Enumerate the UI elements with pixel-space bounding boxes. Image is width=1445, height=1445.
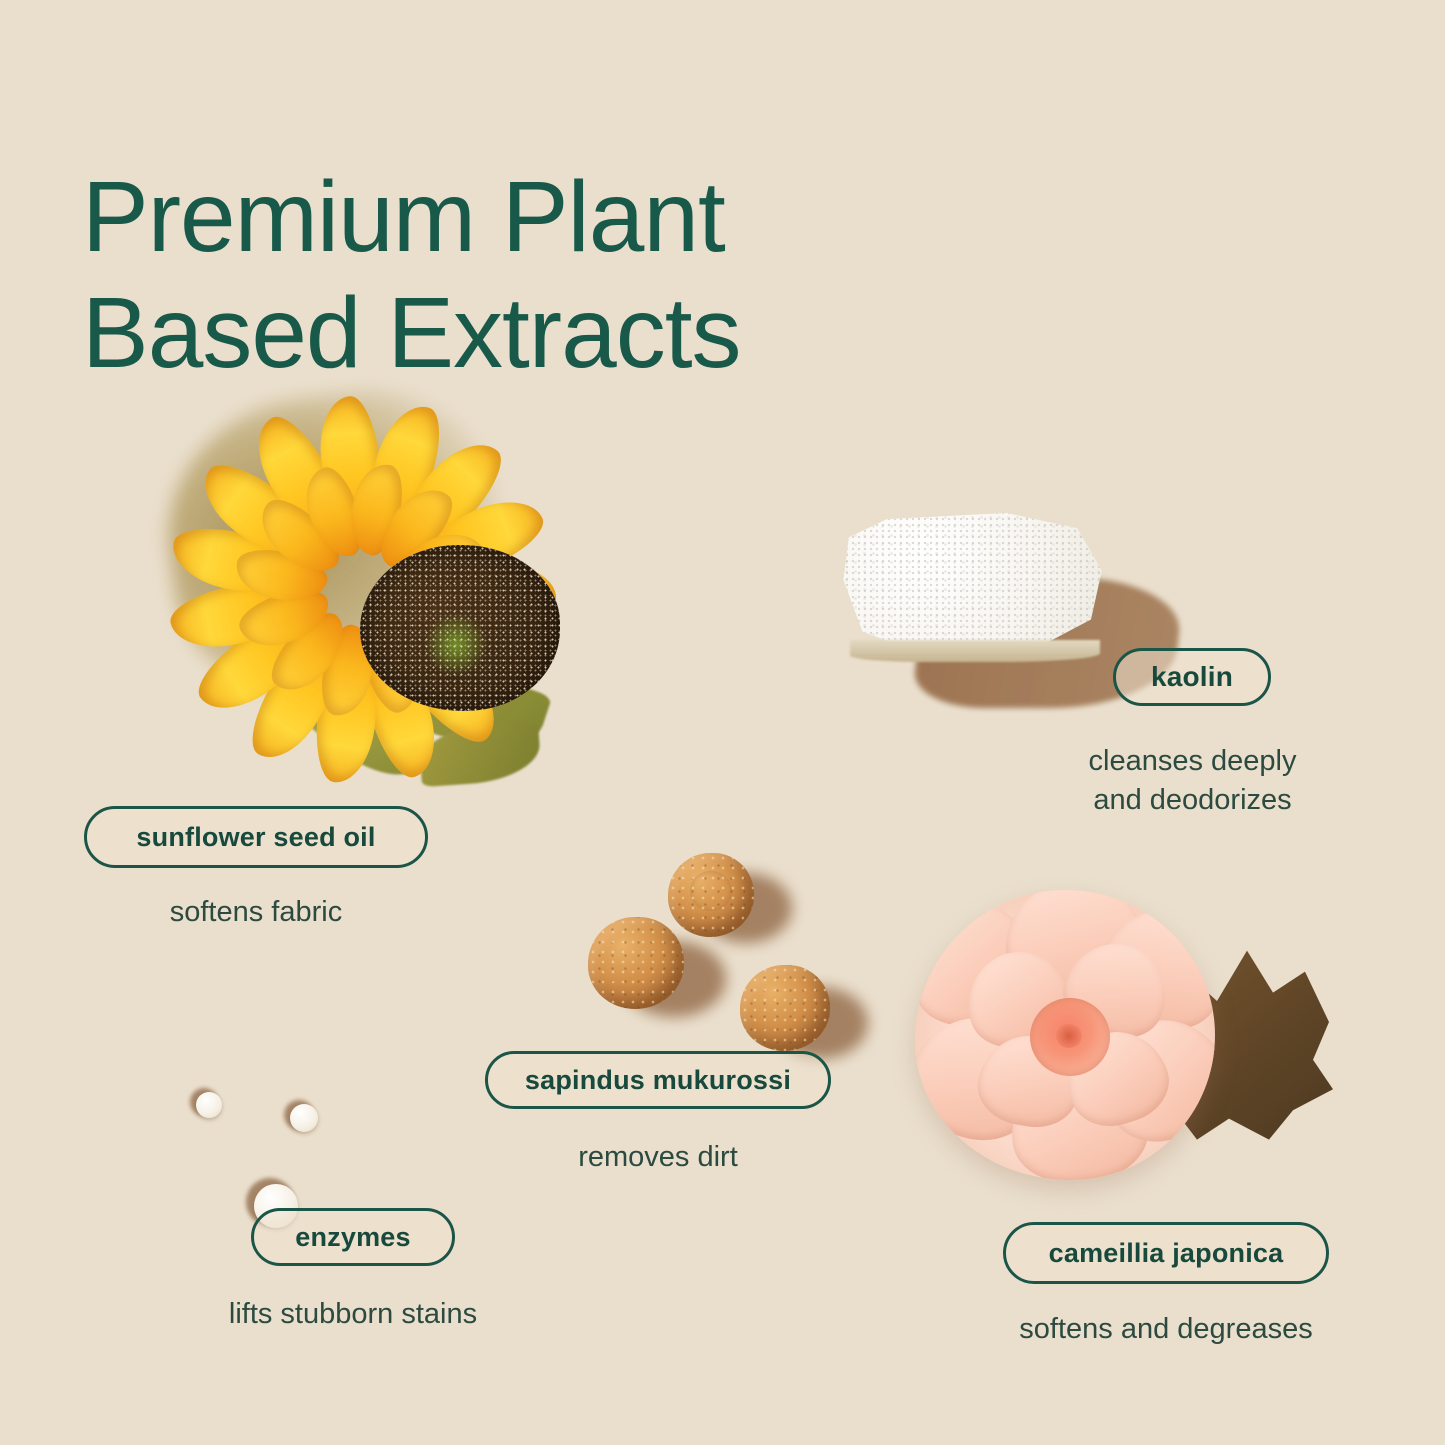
ingredient-caption-enzymes: lifts stubborn stains bbox=[160, 1295, 546, 1334]
ingredient-caption-sapindus-mukurossi: removes dirt bbox=[485, 1138, 831, 1177]
soap-nut bbox=[740, 965, 830, 1051]
soap-nut-seed-scar bbox=[690, 871, 732, 911]
camellia-flower-photo bbox=[905, 880, 1335, 1220]
camellia-bloom bbox=[915, 890, 1215, 1180]
ingredient-label-enzymes[interactable]: enzymes bbox=[251, 1208, 455, 1266]
ingredient-label-sunflower-seed-oil[interactable]: sunflower seed oil bbox=[84, 806, 428, 868]
soap-nut bbox=[668, 853, 754, 937]
ingredient-caption-kaolin: cleanses deeply and deodorizes bbox=[1045, 742, 1340, 820]
sunflower-photo bbox=[170, 395, 690, 845]
soap-nut bbox=[588, 917, 684, 1009]
ingredient-caption-sunflower-seed-oil: softens fabric bbox=[84, 893, 428, 932]
kaolin-rock-base bbox=[850, 640, 1100, 662]
page-title: Premium Plant Based Extracts bbox=[82, 159, 962, 391]
ingredient-label-cameillia-japonica[interactable]: cameillia japonica bbox=[1003, 1222, 1329, 1284]
ingredient-label-kaolin[interactable]: kaolin bbox=[1113, 648, 1271, 706]
soap-nuts-photo bbox=[560, 845, 870, 1065]
camellia-center bbox=[1030, 998, 1110, 1076]
infographic-canvas: Premium Plant Based Extracts bbox=[0, 0, 1445, 1445]
sunflower-seed-disc bbox=[360, 545, 560, 711]
enzyme-granule bbox=[290, 1104, 318, 1132]
ingredient-caption-cameillia-japonica: softens and degreases bbox=[986, 1310, 1346, 1349]
enzyme-granule bbox=[196, 1092, 222, 1118]
ingredient-label-sapindus-mukurossi[interactable]: sapindus mukurossi bbox=[485, 1051, 831, 1109]
